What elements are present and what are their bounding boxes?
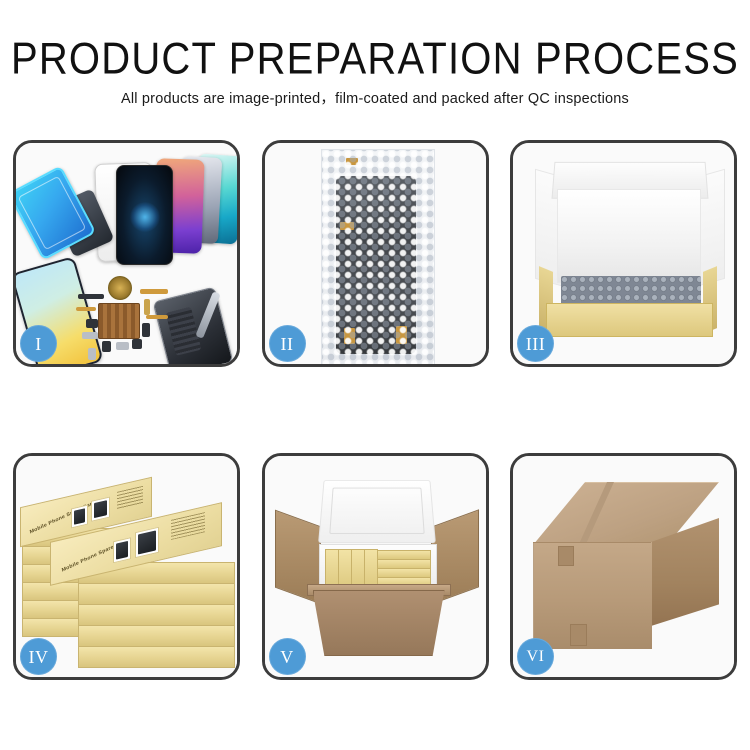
step-panel-3: III bbox=[510, 140, 737, 367]
step-panel-1: I bbox=[13, 140, 240, 367]
page-subtitle: All products are image-printed，film-coat… bbox=[0, 90, 750, 108]
product-preparation-infographic: PRODUCT PREPARATION PROCESS All products… bbox=[0, 0, 750, 750]
step-panel-5: V bbox=[262, 453, 489, 680]
process-steps-grid: I II bbox=[13, 140, 737, 680]
header: PRODUCT PREPARATION PROCESS All products… bbox=[0, 33, 750, 108]
step-badge-2: II bbox=[269, 325, 306, 362]
step-badge-5: V bbox=[269, 638, 306, 675]
step-badge-6: VI bbox=[517, 638, 554, 675]
step-badge-3: III bbox=[517, 325, 554, 362]
step-badge-1: I bbox=[20, 325, 57, 362]
page-title: PRODUCT PREPARATION PROCESS bbox=[0, 33, 750, 85]
step-panel-6: VI bbox=[510, 453, 737, 680]
step-panel-4: Mobile Phone Spare Parts Mobile Phone Sp… bbox=[13, 453, 240, 680]
step-badge-4: IV bbox=[20, 638, 57, 675]
step-panel-2: II bbox=[262, 140, 489, 367]
